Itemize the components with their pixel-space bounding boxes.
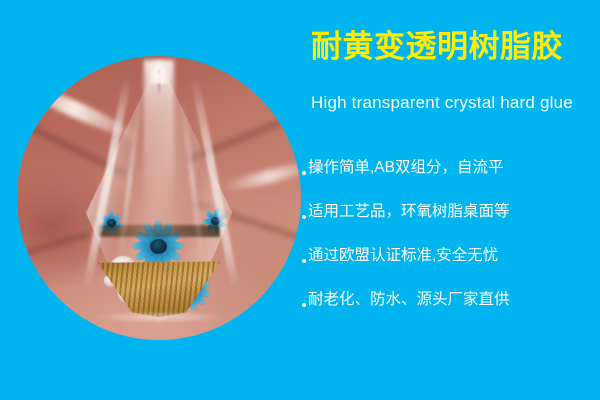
list-item: 通过欧盟认证标准,安全无忧 bbox=[302, 234, 600, 278]
resin-cone-pendant bbox=[74, 60, 244, 328]
cone-apex-glint bbox=[148, 58, 170, 84]
feature-text: 通过欧盟认证标准,安全无忧 bbox=[308, 248, 498, 264]
list-item: 耐老化、防水、源头厂家直供 bbox=[302, 278, 600, 322]
text-column: 耐黄变透明树脂胶 High transparent crystal hard g… bbox=[300, 0, 600, 400]
bullet-dot-icon bbox=[302, 215, 306, 219]
bullet-dot-icon bbox=[302, 303, 306, 307]
cone-bottom-highlight bbox=[94, 313, 223, 323]
bullet-dot-icon bbox=[302, 171, 306, 175]
feature-text: 耐老化、防水、源头厂家直供 bbox=[308, 292, 510, 308]
feature-text: 操作简单,AB双组分，自流平 bbox=[308, 160, 503, 176]
list-item: 适用工艺品，环氧树脂桌面等 bbox=[302, 190, 600, 234]
product-banner: 耐黄变透明树脂胶 High transparent crystal hard g… bbox=[0, 0, 600, 400]
feature-text: 适用工艺品，环氧树脂桌面等 bbox=[308, 204, 510, 220]
list-item: 操作简单,AB双组分，自流平 bbox=[302, 146, 600, 190]
product-photo bbox=[17, 56, 301, 340]
feature-list: 操作简单,AB双组分，自流平 适用工艺品，环氧树脂桌面等 通过欧盟认证标准,安全… bbox=[302, 146, 600, 322]
page-title: 耐黄变透明树脂胶 bbox=[311, 30, 563, 64]
bullet-dot-icon bbox=[302, 259, 306, 263]
subtitle: High transparent crystal hard glue bbox=[311, 93, 573, 113]
